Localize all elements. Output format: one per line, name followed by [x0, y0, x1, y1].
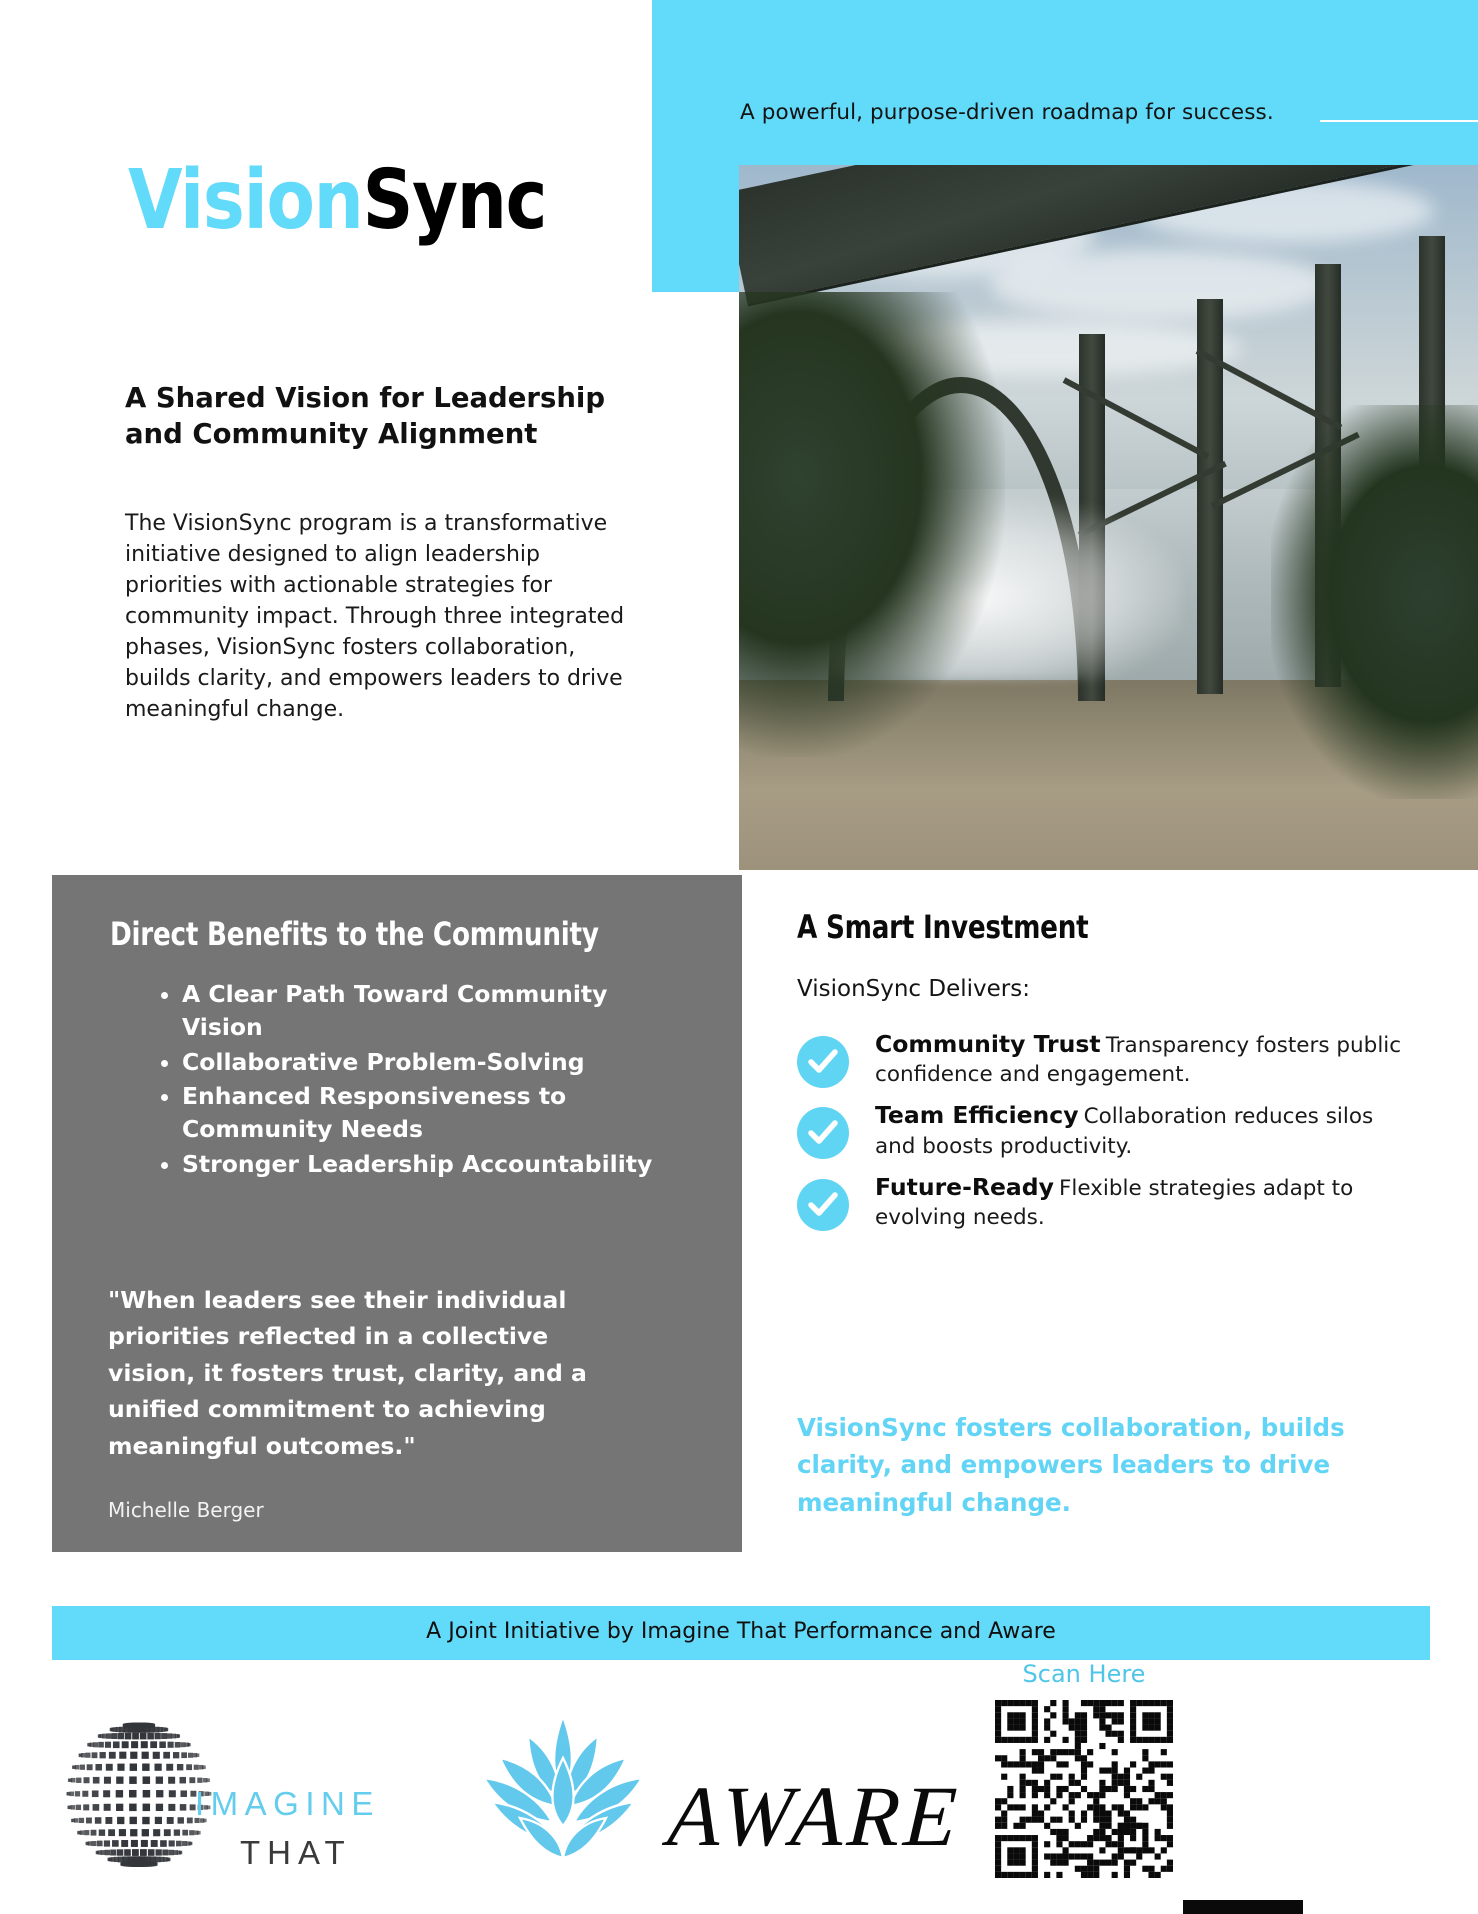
aware-logo: AWARE	[468, 1700, 988, 1900]
qr-code[interactable]	[995, 1700, 1173, 1878]
hero-trees-right	[1271, 405, 1478, 800]
benefit-title: Community Trust	[875, 1030, 1101, 1058]
check-circle-icon	[797, 1179, 849, 1231]
aware-word: AWARE	[665, 1766, 963, 1866]
brand-logo-part-vision: Vision	[128, 153, 363, 248]
closing-statement: VisionSync fosters collaboration, builds…	[797, 1409, 1417, 1521]
brand-logo: VisionSync	[128, 160, 546, 242]
header-divider-rule	[1320, 120, 1478, 122]
hero-trees-left	[739, 292, 1005, 757]
imagine-word: IMAGINE	[195, 1785, 380, 1823]
investment-benefit-list: Community Trust Transparency fosters pub…	[797, 1030, 1417, 1244]
footer-banner-text: A Joint Initiative by Imagine That Perfo…	[52, 1619, 1430, 1644]
intro-heading: A Shared Vision for Leadership and Commu…	[125, 380, 625, 453]
poster-page: A powerful, purpose-driven roadmap for s…	[0, 0, 1478, 1914]
list-item: Collaborative Problem-Solving	[182, 1046, 682, 1079]
list-item: Enhanced Responsiveness to Community Nee…	[182, 1080, 682, 1147]
list-item: Team Efficiency Collaboration reduces si…	[797, 1101, 1417, 1160]
hero-bridge-photo	[739, 165, 1478, 870]
brand-logo-part-sync: Sync	[363, 153, 547, 248]
benefit-title: Team Efficiency	[875, 1101, 1079, 1129]
check-circle-icon	[797, 1036, 849, 1088]
imagine-that-logo: IMAGINE THAT	[52, 1712, 342, 1897]
intro-body-text: The VisionSync program is a transformati…	[125, 508, 635, 725]
header-tagline: A powerful, purpose-driven roadmap for s…	[740, 100, 1274, 125]
benefits-list: A Clear Path Toward Community Vision Col…	[152, 978, 682, 1182]
benefit-title: Future-Ready	[875, 1173, 1054, 1201]
testimonial-author: Michelle Berger	[108, 1498, 264, 1522]
lotus-icon	[468, 1706, 658, 1866]
check-circle-icon	[797, 1107, 849, 1159]
hero-cloud	[990, 250, 1330, 321]
that-word: THAT	[240, 1834, 352, 1872]
benefits-heading: Direct Benefits to the Community	[110, 915, 599, 953]
footer-banner: A Joint Initiative by Imagine That Perfo…	[52, 1606, 1430, 1660]
list-item: Community Trust Transparency fosters pub…	[797, 1030, 1417, 1089]
testimonial-quote: "When leaders see their individual prior…	[108, 1282, 613, 1464]
investment-heading: A Smart Investment	[797, 908, 1088, 946]
list-item: Future-Ready Flexible strategies adapt t…	[797, 1173, 1417, 1232]
qr-code-svg	[995, 1700, 1173, 1878]
scan-here-label: Scan Here	[995, 1660, 1173, 1688]
delivers-label: VisionSync Delivers:	[797, 976, 1030, 1002]
qr-bottom-mark	[1183, 1900, 1303, 1914]
list-item: A Clear Path Toward Community Vision	[182, 978, 682, 1045]
list-item: Stronger Leadership Accountability	[182, 1148, 682, 1181]
